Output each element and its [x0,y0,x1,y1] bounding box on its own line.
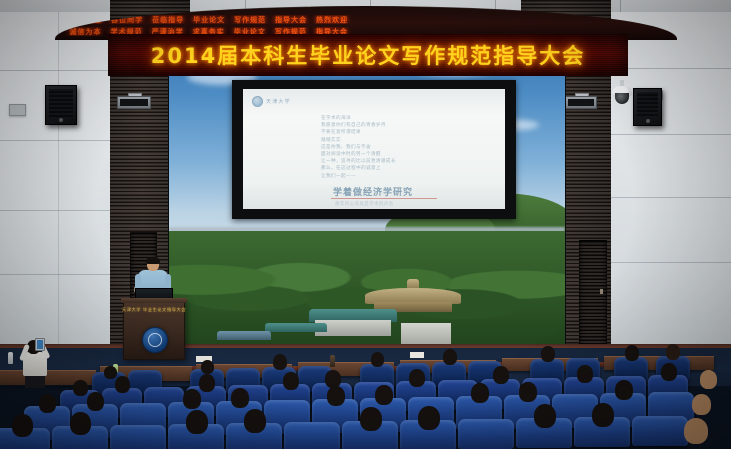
audience-head [199,374,215,392]
audience-head [692,394,711,415]
ticker-word: 写作规范 [234,15,266,24]
audience-head [371,352,384,367]
audience-head [418,406,440,430]
audience-head [327,386,345,406]
audience-head [615,380,633,400]
audience-head [360,407,382,431]
university-seal-emblem [142,327,168,353]
smartphone [35,338,45,351]
slide-line: 让一种，追寻的比以前更清澈成长 [321,158,396,165]
audience-head [471,383,489,403]
projection-screen: 天津大学 在学术的海洋 我愿意你们有自己的青春岁月 不要在意所谓结果 踏踏实实 … [243,89,505,209]
audience-head [684,418,708,444]
audience-head [493,366,509,384]
projection-screen-frame: 天津大学 在学术的海洋 我愿意你们有自己的青春岁月 不要在意所谓结果 踏踏实实 … [232,80,516,219]
slide-line: 这是你我、我们与不舍 [321,144,396,151]
auditorium-scene: 天津大学 在学术的海洋 我愿意你们有自己的青春岁月 不要在意所谓结果 踏踏实实 … [0,0,731,449]
led-banner-title: 2014届本科生毕业论文写作规范指导大会 [151,40,585,70]
slide-line: 在学术的海洋 [321,115,396,122]
audience-head [409,369,425,387]
ticker-word: 热烈欢迎 [316,15,348,24]
wall-control-box [9,104,26,116]
water-bottle [330,355,335,367]
audience-head [592,403,614,427]
slide-line: 那么，在这过程中的诚意上 [321,165,396,172]
seat[interactable] [110,425,166,449]
presentation-slide: 天津大学 在学术的海洋 我愿意你们有自己的青春岁月 不要在意所谓结果 踏踏实实 … [243,89,505,209]
slide-subheading: 那年内心深处是学术的声音 [335,201,394,207]
right-loudspeaker [633,88,662,126]
ticker-word: 诚信为本 [69,27,102,36]
slide-line: 不要在意所谓结果 [321,129,396,136]
led-ticker-row-1: 热烈欢迎 各位同学 莅临指导 毕业论文 写作规范 指导大会 热烈欢迎 [56,15,676,24]
slide-heading: 学着做经济学研究 [333,185,413,198]
left-stage-light-fixture [117,93,151,110]
audience-head [283,372,299,390]
audience-head [443,349,457,365]
audience-head [186,410,208,434]
slide-underline [331,198,437,199]
audience-head [700,370,717,389]
ticker-word: 各位同学 [111,15,143,24]
audience-head [375,385,393,405]
audience-head [541,346,555,362]
seat[interactable] [458,419,514,449]
audience-head [12,414,33,437]
audience-head [661,363,677,381]
university-logo-mark [252,96,263,107]
ticker-word: 莅临指导 [152,15,184,24]
slide-line: 让我们一起—— [321,173,396,180]
slide-line: 面对阅读中时的另一个清醒 [321,151,396,158]
university-logo-text: 天津大学 [266,98,291,105]
slide-body-text: 在学术的海洋 我愿意你们有自己的青春岁月 不要在意所谓结果 踏踏实实 这是你我、… [321,115,396,180]
led-banner: 2014届本科生毕业论文写作规范指导大会 [108,34,628,76]
audience-head [87,392,104,411]
podium-inscription: 天津大学 毕业生论文指导大会 [128,306,180,313]
audience-head [201,360,214,374]
ticker-word: 毕业论文 [193,15,225,24]
audience-head [534,404,556,428]
audience-head [231,388,249,408]
audience-head [39,394,56,413]
audience-head [244,409,266,433]
side-door[interactable] [579,240,607,352]
podium: 天津大学 毕业生论文指导大会 [123,300,185,360]
audience-head [115,376,130,393]
slide-line: 我愿意你们有自己的青春岁月 [321,122,396,129]
audience-head [73,380,88,396]
university-logo: 天津大学 [252,96,291,107]
audience-member-taking-photo [22,336,48,388]
ticker-word: 指导大会 [275,15,307,24]
audience-head [519,382,537,402]
ptz-dome-camera-icon [611,80,633,106]
ticker-word: 热烈欢迎 [70,15,103,24]
slide-line: 踏踏实实 [321,137,396,144]
left-loudspeaker [45,85,77,125]
audience-head [183,389,201,409]
audience-head [625,345,639,361]
water-bottle [8,352,13,364]
audience-head [273,354,287,370]
audience-head [104,366,117,379]
seat[interactable] [632,416,688,446]
audience-head [666,344,680,360]
audience-head [70,412,91,435]
handout-paper [410,352,424,358]
seat[interactable] [284,422,340,449]
audience-head [577,365,593,383]
right-stage-light-fixture [565,93,597,109]
